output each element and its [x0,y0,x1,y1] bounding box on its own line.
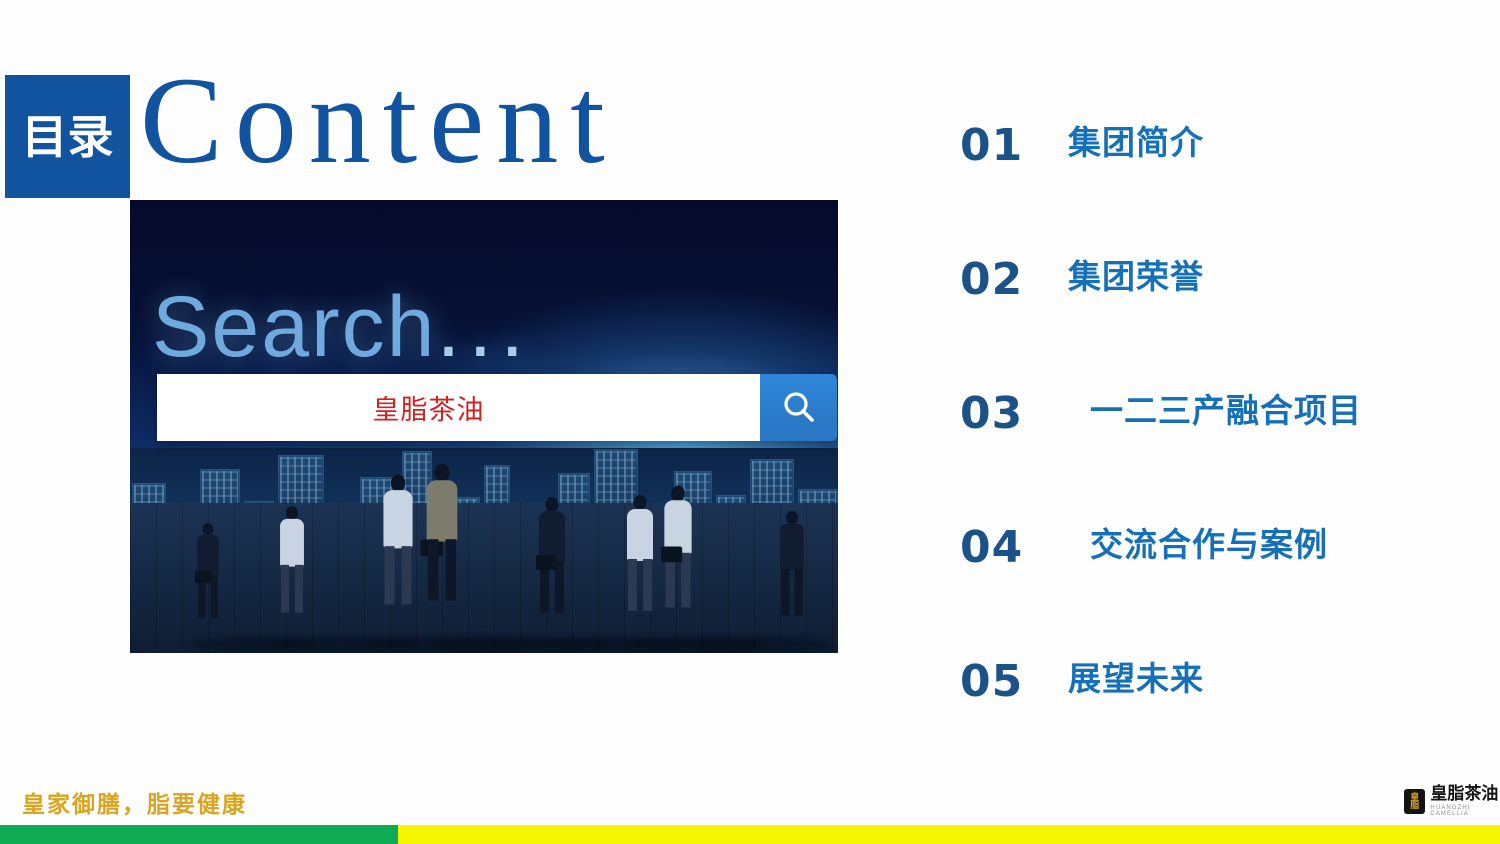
toc-item-02[interactable]: 02 集团荣誉 [960,254,1480,388]
person-legs [781,569,803,616]
logo-name-en: HUANGZHI CAMELLIA [1430,805,1500,817]
person-body [780,524,803,571]
person-legs [281,565,303,613]
person-head [391,474,406,491]
briefcase [661,547,682,563]
search-icon [779,388,819,428]
person-head [546,497,559,512]
toc-label: 一二三产融合项目 [1068,388,1362,427]
person-legs [385,546,412,604]
slide-title-area: 目录 Content [0,0,900,210]
toc-item-05[interactable]: 05 展望未来 [960,656,1480,790]
person-shadow [682,637,832,653]
toc-number: 02 [960,254,1068,302]
person-legs [428,539,456,600]
search-engine-illustration: Search... [130,200,838,653]
person-head [203,523,214,535]
footer-slogan: 皇家御膳，脂要健康 [22,785,247,819]
person-body [627,509,653,561]
illustration-headline: Search... [152,278,532,377]
logo-seal-icon: 皇脂 [1404,789,1425,814]
toc-item-01[interactable]: 01 集团简介 [960,120,1480,254]
toc-label: 集团简介 [1068,120,1204,159]
person-head [671,486,685,502]
person-head [786,511,798,525]
footer-bar-green [0,825,398,844]
heading-cn-label: 目录 [22,114,114,160]
toc-number: 03 [960,388,1068,436]
illustration-headline-dots: ... [437,279,533,375]
person-head [286,506,298,520]
wooden-deck [130,503,838,653]
logo-seal-text: 皇脂 [1410,794,1419,810]
person-head [434,464,449,482]
cityscape: Search engine. [130,448,838,653]
logo-text-block: 皇脂茶油 HUANGZHI CAMELLIA [1430,786,1500,817]
person-head [634,495,647,510]
person-body [280,519,304,567]
heading-en-label: Content [140,56,617,186]
toc-label: 展望未来 [1068,656,1204,695]
search-input[interactable]: 皇脂茶油 [157,374,760,441]
logo-name-cn: 皇脂茶油 [1430,786,1500,803]
toc-number: 05 [960,656,1068,704]
person-body [383,490,412,548]
heading-cn-badge: 目录 [5,75,130,198]
briefcase [195,571,211,583]
person-body [427,480,458,541]
table-of-contents: 01 集团简介 02 集团荣誉 03 一二三产融合项目 04 交流合作与案例 0… [960,120,1480,790]
search-bar[interactable]: 皇脂茶油 [157,374,837,441]
toc-label: 交流合作与案例 [1068,522,1328,561]
brand-logo: 皇脂 皇脂茶油 HUANGZHI CAMELLIA [1404,786,1500,817]
illustration-headline-text: Search [152,279,437,375]
search-button[interactable] [760,374,837,441]
toc-item-04[interactable]: 04 交流合作与案例 [960,522,1480,656]
toc-number: 01 [960,120,1068,168]
footer-bar-yellow [398,825,1500,844]
search-input-value: 皇脂茶油 [373,388,485,427]
person-legs [628,559,652,611]
briefcase [536,555,556,570]
toc-item-03[interactable]: 03 一二三产融合项目 [960,388,1480,522]
toc-label: 集团荣誉 [1068,254,1204,293]
toc-number: 04 [960,522,1068,570]
